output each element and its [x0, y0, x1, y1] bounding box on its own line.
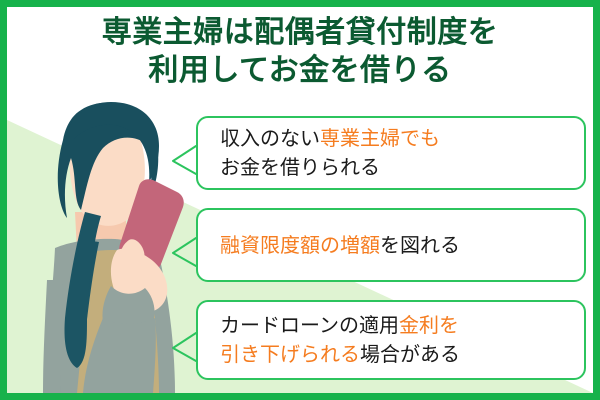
highlighted-text: 引き下げられる	[220, 342, 360, 366]
highlighted-text: 融資限度額の増額	[220, 233, 380, 257]
bubble-text-line: カードローンの適用金利を	[198, 311, 584, 340]
bubble-text-line: 引き下げられる場合がある	[198, 340, 584, 369]
woman-holding-smartphone-illustration	[7, 100, 212, 393]
plain-text: 収入のない	[220, 126, 320, 150]
plain-text: カードローンの適用	[220, 313, 399, 337]
bubble-text-line: 収入のない専業主婦でも	[198, 124, 584, 153]
benefit-bubble-2: 融資限度額の増額を図れる	[196, 208, 586, 282]
plain-text: お金を借りられる	[220, 155, 380, 179]
highlighted-text: 金利を	[399, 313, 459, 337]
benefit-bubble-3: カードローンの適用金利を引き下げられる場合がある	[196, 300, 586, 380]
bubble-text-line: お金を借りられる	[198, 153, 584, 182]
highlighted-text: 専業主婦でも	[320, 126, 440, 150]
title-line-1: 専業主婦は配偶者貸付制度を	[7, 14, 593, 52]
plain-text: 場合がある	[360, 342, 460, 366]
bubble-text-line: 融資限度額の増額を図れる	[198, 231, 584, 260]
page-title: 専業主婦は配偶者貸付制度を 利用してお金を借りる	[7, 14, 593, 90]
plain-text: を図れる	[380, 233, 460, 257]
title-line-2: 利用してお金を借りる	[7, 52, 593, 90]
benefit-bubble-1: 収入のない専業主婦でもお金を借りられる	[196, 116, 586, 190]
infographic-card: 専業主婦は配偶者貸付制度を 利用してお金を借りる 収入のない専業主婦でもお金を借…	[0, 0, 600, 400]
